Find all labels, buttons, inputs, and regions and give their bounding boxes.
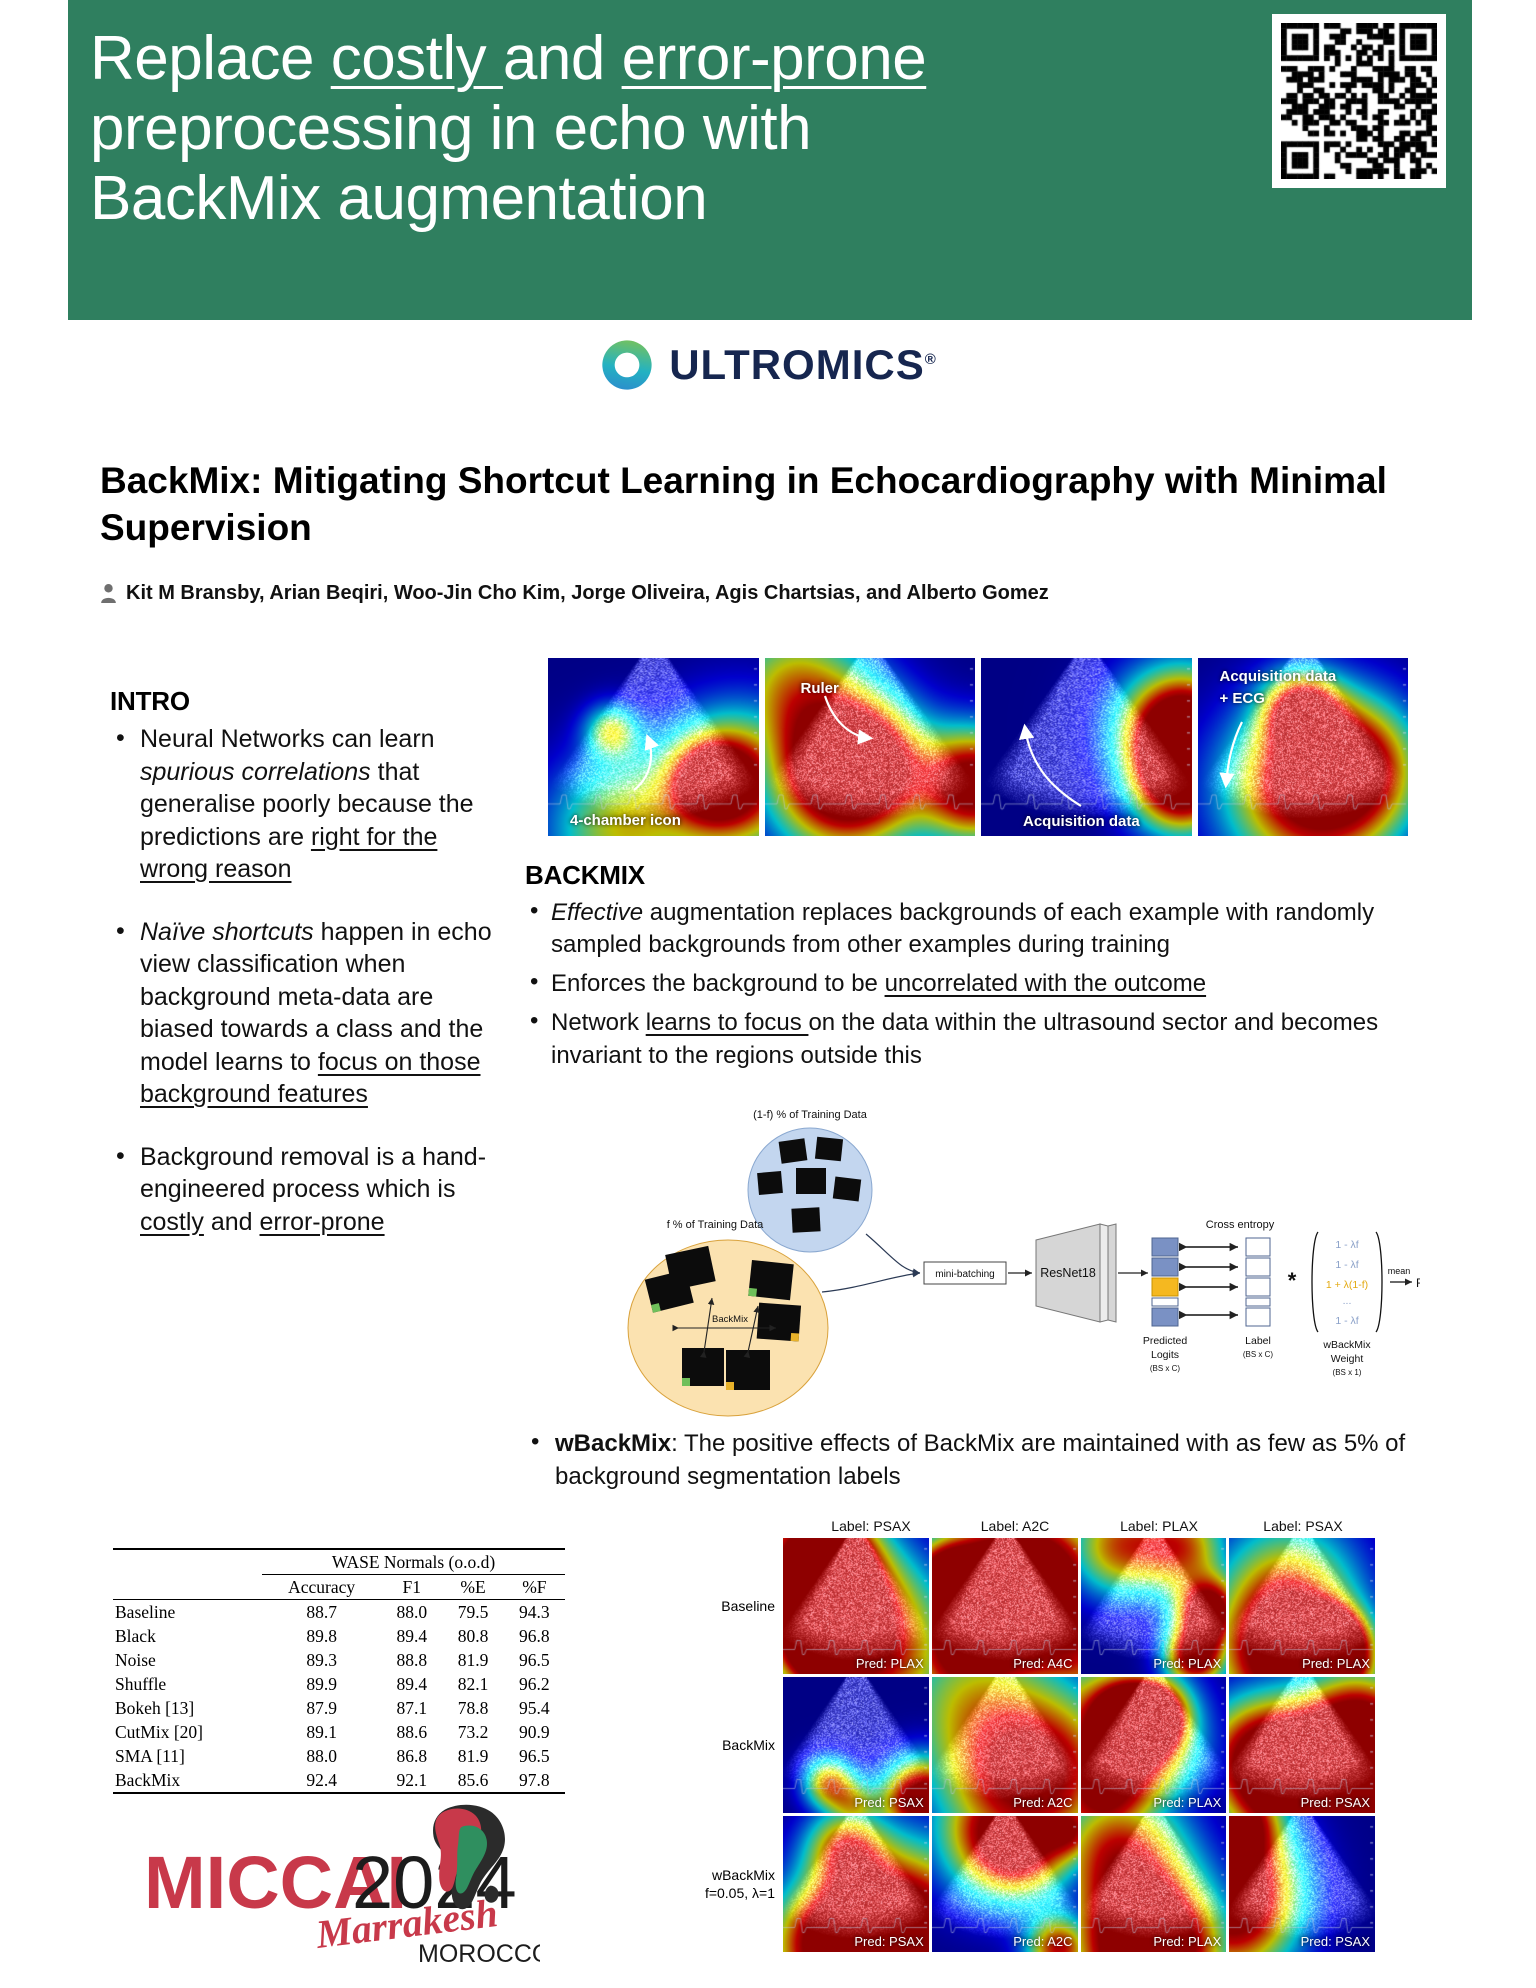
saliency-heatmap-image bbox=[783, 1677, 929, 1813]
intro-bullet-1: Neural Networks can learn spurious corre… bbox=[110, 723, 500, 886]
table-row: Black89.889.480.896.8 bbox=[113, 1624, 565, 1648]
table-cell-method: Bokeh [13] bbox=[113, 1696, 262, 1720]
underlined-text: error-prone bbox=[260, 1208, 385, 1236]
plain-text: Enforces the background to be bbox=[551, 970, 885, 997]
author-list: Kit M Bransby, Arian Beqiri, Woo-Jin Cho… bbox=[100, 582, 1400, 605]
saliency-heatmap-image bbox=[783, 1538, 929, 1674]
table-group-header-row: WASE Normals (o.o.d) bbox=[113, 1549, 565, 1575]
results-table-body: Baseline88.788.079.594.3Black89.889.480.… bbox=[113, 1600, 565, 1794]
plain-text: Network bbox=[551, 1009, 646, 1036]
table-cell-value: 96.5 bbox=[504, 1744, 565, 1768]
grid-saliency-cell: Pred: PLAX bbox=[783, 1538, 929, 1674]
table-col-accuracy: Accuracy bbox=[262, 1575, 381, 1600]
table-corner-cell bbox=[113, 1549, 262, 1575]
arch-label-top-cluster: (1-f) % of Training Data bbox=[753, 1109, 868, 1121]
label-column bbox=[1246, 1238, 1270, 1326]
arch-label-bottom-cluster: f % of Training Data bbox=[667, 1219, 764, 1231]
predicted-logits-label-1: Predicted bbox=[1143, 1335, 1188, 1347]
table-cell-method: Black bbox=[113, 1624, 262, 1648]
annotation-overlay-3 bbox=[981, 658, 1192, 836]
grid-saliency-cell: Pred: PSAX bbox=[1229, 1816, 1375, 1952]
miccai-2024-logo: MICCAI 2024 Marrakesh MOROCCO bbox=[140, 1800, 540, 1970]
qualitative-results-grid: Label: PSAX Label: A2C Label: PLAX Label… bbox=[655, 1518, 1375, 1955]
resnet-backbone-edge bbox=[1100, 1224, 1108, 1322]
saliency-heatmap-image bbox=[1229, 1677, 1375, 1813]
predicted-logits-label-2: Logits bbox=[1151, 1349, 1179, 1361]
prediction-label: Pred: PLAX bbox=[1153, 1656, 1221, 1671]
prediction-label: Pred: PLAX bbox=[1153, 1934, 1221, 1949]
qr-code-container[interactable] bbox=[1272, 14, 1446, 188]
weight-label-2: Weight bbox=[1331, 1353, 1364, 1365]
grid-col-header-2: Label: A2C bbox=[943, 1518, 1087, 1538]
table-row: Baseline88.788.079.594.3 bbox=[113, 1600, 565, 1625]
grid-saliency-cell: Pred: PLAX bbox=[1081, 1816, 1227, 1952]
intro-bullet-3: Background removal is a hand-engineered … bbox=[110, 1141, 500, 1239]
label-column-dim: (BS x C) bbox=[1243, 1350, 1274, 1359]
headline-part-1: Replace bbox=[90, 24, 331, 93]
grid-col-header-3: Label: PLAX bbox=[1087, 1518, 1231, 1538]
backmix-bullet-3: Network learns to focus on the data with… bbox=[525, 1007, 1420, 1071]
saliency-heatmap-image bbox=[932, 1677, 1078, 1813]
grid-saliency-cell: Pred: A2C bbox=[932, 1816, 1078, 1952]
annotation-overlay-1 bbox=[548, 658, 759, 836]
ultromics-logo: ULTROMICS® bbox=[0, 332, 1536, 398]
prediction-label: Pred: A2C bbox=[1013, 1934, 1072, 1949]
weight-dim: (BS x 1) bbox=[1333, 1368, 1362, 1377]
label-ruler: Ruler bbox=[801, 680, 839, 697]
underlined-text: costly bbox=[140, 1208, 204, 1236]
grid-col-header-4: Label: PSAX bbox=[1231, 1518, 1375, 1538]
saliency-heatmap-image bbox=[1229, 1816, 1375, 1952]
weight-row-3: ... bbox=[1343, 1295, 1352, 1307]
underlined-text: uncorrelated with the outcome bbox=[885, 970, 1207, 997]
arch-backmix-operation-label: BackMix bbox=[712, 1314, 748, 1325]
table-cell-value: 85.6 bbox=[442, 1768, 503, 1793]
grid-row: wBackMixf=0.05, λ=1Pred: PSAXPred: A2CPr… bbox=[655, 1816, 1375, 1952]
plain-text: : The positive effects of BackMix are ma… bbox=[555, 1430, 1405, 1490]
prediction-label: Pred: PLAX bbox=[1302, 1656, 1370, 1671]
grid-col-header-1: Label: PSAX bbox=[799, 1518, 943, 1538]
poster-header-banner: Replace costly and error-prone preproces… bbox=[68, 0, 1472, 320]
table-cell-value: 89.8 bbox=[262, 1624, 381, 1648]
table-cell-value: 82.1 bbox=[442, 1672, 503, 1696]
saliency-cell-3: Acquisition data bbox=[981, 658, 1192, 836]
label-column-label: Label bbox=[1245, 1335, 1271, 1347]
grid-row-label-text: Baseline bbox=[721, 1597, 775, 1615]
table-cell-value: 87.1 bbox=[381, 1696, 442, 1720]
qr-code-icon[interactable] bbox=[1281, 23, 1437, 179]
saliency-cell-4: Acquisition data + ECG bbox=[1198, 658, 1409, 836]
table-cell-value: 96.2 bbox=[504, 1672, 565, 1696]
label-acquisition-data: Acquisition data bbox=[1023, 813, 1140, 830]
registered-mark: ® bbox=[925, 351, 937, 368]
plain-text: Neural Networks can learn bbox=[140, 725, 435, 753]
table-cell-value: 79.5 bbox=[442, 1600, 503, 1625]
grid-row: BaselinePred: PLAXPred: A4CPred: PLAXPre… bbox=[655, 1538, 1375, 1674]
table-row: Noise89.388.881.996.5 bbox=[113, 1648, 565, 1672]
table-column-header-row: Accuracy F1 %E %F bbox=[113, 1575, 565, 1600]
table-cell-value: 88.8 bbox=[381, 1648, 442, 1672]
saliency-cell-2: Ruler bbox=[765, 658, 976, 836]
table-cell-value: 88.0 bbox=[262, 1744, 381, 1768]
headline-line-3: BackMix augmentation bbox=[90, 164, 707, 233]
prediction-label: Pred: A2C bbox=[1013, 1795, 1072, 1810]
weight-row-1: 1 - λf bbox=[1335, 1259, 1358, 1271]
saliency-heatmap-image bbox=[1081, 1677, 1227, 1813]
weight-label-1: wBackMix bbox=[1322, 1339, 1371, 1351]
emphasis-text: Effective bbox=[551, 899, 643, 926]
weight-bracket-right bbox=[1376, 1232, 1382, 1332]
grid-saliency-cell: Pred: PSAX bbox=[783, 1816, 929, 1952]
strong-text: wBackMix bbox=[555, 1430, 671, 1457]
backbone-label: ResNet18 bbox=[1040, 1266, 1096, 1280]
results-table-container: WASE Normals (o.o.d) Accuracy F1 %E %F B… bbox=[113, 1548, 565, 1794]
table-cell-value: 88.7 bbox=[262, 1600, 381, 1625]
table-cell-value: 89.4 bbox=[381, 1672, 442, 1696]
headline-line-2: preprocessing in echo with bbox=[90, 94, 811, 163]
table-row: Shuffle89.989.482.196.2 bbox=[113, 1672, 565, 1696]
weight-row-2: 1 + λ(1-f) bbox=[1326, 1279, 1368, 1291]
results-table-head: WASE Normals (o.o.d) Accuracy F1 %E %F bbox=[113, 1549, 565, 1600]
weight-bracket-left bbox=[1312, 1232, 1318, 1332]
table-cell-value: 92.1 bbox=[381, 1768, 442, 1793]
plain-text: and bbox=[204, 1208, 260, 1236]
headline-underlined-errorprone: error-prone bbox=[622, 24, 927, 93]
resnet-backbone-edge2 bbox=[1108, 1224, 1116, 1322]
grid-row-label: BackMix bbox=[655, 1677, 783, 1813]
grid-rows: BaselinePred: PLAXPred: A4CPred: PLAXPre… bbox=[655, 1538, 1375, 1952]
intro-section: INTRO Neural Networks can learn spurious… bbox=[110, 686, 500, 1268]
table-cell-value: 89.3 bbox=[262, 1648, 381, 1672]
grid-cells: Pred: PLAXPred: A4CPred: PLAXPred: PLAX bbox=[783, 1538, 1375, 1674]
prediction-label: Pred: PLAX bbox=[1153, 1795, 1221, 1810]
grid-header-gutter bbox=[655, 1518, 799, 1538]
grid-cells: Pred: PSAXPred: A2CPred: PLAXPred: PSAX bbox=[783, 1677, 1375, 1813]
table-cell-value: 73.2 bbox=[442, 1720, 503, 1744]
saliency-heatmap-image bbox=[932, 1538, 1078, 1674]
plain-text: Background removal is a hand-engineered … bbox=[140, 1143, 486, 1204]
miccai-country: MOROCCO bbox=[418, 1940, 540, 1968]
predicted-logits-dim: (BS x C) bbox=[1150, 1364, 1181, 1373]
saliency-map-strip: 4-chamber icon Ruler Acquisition data bbox=[548, 658, 1408, 836]
saliency-heatmap-image bbox=[1229, 1538, 1375, 1674]
table-cell-value: 81.9 bbox=[442, 1744, 503, 1768]
table-col-f1: F1 bbox=[381, 1575, 442, 1600]
headline-underlined-costly: costly bbox=[331, 24, 503, 93]
minibatching-label: mini-batching bbox=[935, 1269, 994, 1280]
table-group-header: WASE Normals (o.o.d) bbox=[262, 1549, 565, 1575]
grid-row-label-text: BackMix bbox=[722, 1736, 775, 1754]
backmix-bullet-1: Effective augmentation replaces backgrou… bbox=[525, 897, 1420, 961]
backmix-bullet-2: Enforces the background to be uncorrelat… bbox=[525, 968, 1420, 1000]
table-cell-value: 88.0 bbox=[381, 1600, 442, 1625]
table-cell-value: 88.6 bbox=[381, 1720, 442, 1744]
grid-saliency-cell: Pred: A4C bbox=[932, 1538, 1078, 1674]
prediction-label: Pred: PLAX bbox=[856, 1656, 924, 1671]
final-loss-label: Final loss bbox=[1416, 1276, 1420, 1290]
table-cell-method: Noise bbox=[113, 1648, 262, 1672]
results-table: WASE Normals (o.o.d) Accuracy F1 %E %F B… bbox=[113, 1548, 565, 1794]
table-row: Bokeh [13]87.987.178.895.4 bbox=[113, 1696, 565, 1720]
saliency-heatmap-image bbox=[1081, 1538, 1227, 1674]
grid-saliency-cell: Pred: PSAX bbox=[1229, 1677, 1375, 1813]
cross-entropy-arrows bbox=[1186, 1247, 1238, 1315]
table-cell-value: 96.5 bbox=[504, 1648, 565, 1672]
backmix-bullet-list: Effective augmentation replaces backgrou… bbox=[525, 897, 1420, 1072]
intro-heading: INTRO bbox=[110, 686, 500, 717]
backmix-architecture-diagram: (1-f) % of Training Data f % of Training… bbox=[600, 1100, 1420, 1420]
header-headline: Replace costly and error-prone preproces… bbox=[68, 0, 926, 234]
table-cell-method: SMA [11] bbox=[113, 1744, 262, 1768]
table-row: CutMix [20]89.188.673.290.9 bbox=[113, 1720, 565, 1744]
table-cell-value: 87.9 bbox=[262, 1696, 381, 1720]
table-cell-value: 78.8 bbox=[442, 1696, 503, 1720]
intro-bullet-2: Naïve shortcuts happen in echo view clas… bbox=[110, 916, 500, 1111]
emphasis-text: spurious correlations bbox=[140, 758, 371, 786]
grid-column-headers: Label: PSAX Label: A2C Label: PLAX Label… bbox=[655, 1518, 1375, 1538]
table-cell-method: BackMix bbox=[113, 1768, 262, 1793]
ultromics-ring-logo-icon bbox=[599, 337, 655, 393]
intro-bullet-list: Neural Networks can learn spurious corre… bbox=[110, 723, 500, 1238]
table-row: SMA [11]88.086.881.996.5 bbox=[113, 1744, 565, 1768]
headline-part-2: and bbox=[503, 24, 622, 93]
table-col-pct-e: %E bbox=[442, 1575, 503, 1600]
table-cell-method: Shuffle bbox=[113, 1672, 262, 1696]
backmix-heading: BACKMIX bbox=[525, 860, 1420, 891]
table-cell-value: 89.9 bbox=[262, 1672, 381, 1696]
grid-row: BackMixPred: PSAXPred: A2CPred: PLAXPred… bbox=[655, 1677, 1375, 1813]
table-row: BackMix92.492.185.697.8 bbox=[113, 1768, 565, 1793]
grid-row-label: Baseline bbox=[655, 1538, 783, 1674]
table-method-column-header bbox=[113, 1575, 262, 1600]
prediction-label: Pred: PSAX bbox=[854, 1795, 923, 1810]
ultromics-wordmark: ULTROMICS® bbox=[669, 341, 937, 389]
saliency-heatmap-image bbox=[783, 1816, 929, 1952]
grid-cells: Pred: PSAXPred: A2CPred: PLAXPred: PSAX bbox=[783, 1816, 1375, 1952]
saliency-cell-1: 4-chamber icon bbox=[548, 658, 759, 836]
saliency-heatmap-image bbox=[1081, 1816, 1227, 1952]
table-cell-value: 86.8 bbox=[381, 1744, 442, 1768]
label-acquisition-ecg-line2: + ECG bbox=[1220, 690, 1265, 707]
prediction-label: Pred: PSAX bbox=[1301, 1795, 1370, 1810]
table-cell-value: 81.9 bbox=[442, 1648, 503, 1672]
emphasis-text: Naïve shortcuts bbox=[140, 918, 314, 946]
grid-saliency-cell: Pred: A2C bbox=[932, 1677, 1078, 1813]
table-cell-method: Baseline bbox=[113, 1600, 262, 1625]
wbackmix-bullet: wBackMix: The positive effects of BackMi… bbox=[525, 1428, 1425, 1493]
table-col-pct-f: %F bbox=[504, 1575, 565, 1600]
grid-saliency-cell: Pred: PLAX bbox=[1081, 1538, 1227, 1674]
plain-text: augmentation replaces backgrounds of eac… bbox=[551, 899, 1374, 958]
brand-name: ULTROMICS bbox=[669, 341, 925, 388]
table-cell-value: 90.9 bbox=[504, 1720, 565, 1744]
grid-saliency-cell: Pred: PLAX bbox=[1081, 1677, 1227, 1813]
grid-saliency-cell: Pred: PSAX bbox=[783, 1677, 929, 1813]
predicted-logits-column bbox=[1152, 1238, 1178, 1326]
poster-root: Replace costly and error-prone preproces… bbox=[0, 0, 1536, 1988]
mean-label: mean bbox=[1388, 1266, 1411, 1276]
person-icon bbox=[100, 583, 117, 604]
page-title: BackMix: Mitigating Shortcut Learning in… bbox=[100, 458, 1390, 552]
prediction-label: Pred: PSAX bbox=[1301, 1934, 1370, 1949]
table-cell-value: 80.8 bbox=[442, 1624, 503, 1648]
label-acquisition-ecg-line1: Acquisition data bbox=[1220, 668, 1337, 685]
prediction-label: Pred: A4C bbox=[1013, 1656, 1072, 1671]
weight-row-0: 1 - λf bbox=[1335, 1239, 1358, 1251]
authors-text: Kit M Bransby, Arian Beqiri, Woo-Jin Cho… bbox=[126, 582, 1049, 605]
table-cell-value: 94.3 bbox=[504, 1600, 565, 1625]
cross-entropy-label: Cross entropy bbox=[1206, 1219, 1275, 1231]
table-cell-value: 97.8 bbox=[504, 1768, 565, 1793]
table-cell-method: CutMix [20] bbox=[113, 1720, 262, 1744]
table-cell-value: 96.8 bbox=[504, 1624, 565, 1648]
weight-row-4: 1 - λf bbox=[1335, 1315, 1358, 1327]
label-4-chamber-icon: 4-chamber icon bbox=[570, 812, 681, 829]
grid-saliency-cell: Pred: PLAX bbox=[1229, 1538, 1375, 1674]
multiply-symbol: * bbox=[1288, 1268, 1297, 1293]
backmix-section: BACKMIX Effective augmentation replaces … bbox=[525, 860, 1420, 1079]
table-cell-value: 95.4 bbox=[504, 1696, 565, 1720]
annotation-overlay-2 bbox=[765, 658, 976, 836]
prediction-label: Pred: PSAX bbox=[854, 1934, 923, 1949]
grid-row-label-text: wBackMixf=0.05, λ=1 bbox=[705, 1866, 775, 1902]
grid-row-label: wBackMixf=0.05, λ=1 bbox=[655, 1816, 783, 1952]
table-cell-value: 92.4 bbox=[262, 1768, 381, 1793]
table-cell-value: 89.1 bbox=[262, 1720, 381, 1744]
underlined-text: learns to focus bbox=[646, 1009, 809, 1036]
saliency-heatmap-image bbox=[932, 1816, 1078, 1952]
table-cell-value: 89.4 bbox=[381, 1624, 442, 1648]
